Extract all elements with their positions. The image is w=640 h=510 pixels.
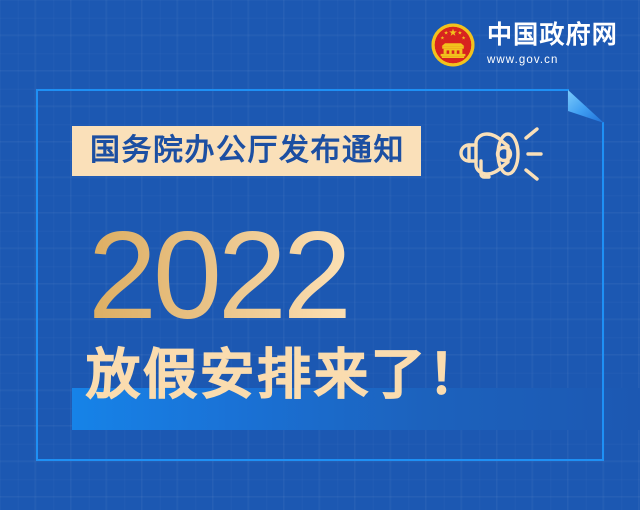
notice-banner-label: 国务院办公厅发布通知 — [90, 136, 405, 166]
headline: 放假安排来了！ — [86, 344, 485, 406]
headline-text: 放假安排来了！ — [86, 348, 485, 402]
poster-canvas: 中国政府网 www.gov.cn 国务院办公厅 — [0, 0, 640, 510]
svg-text:2022: 2022 — [88, 222, 348, 332]
site-header: 中国政府网 www.gov.cn — [0, 0, 640, 90]
year-display: 2022 — [88, 222, 388, 332]
notice-banner: 国务院办公厅发布通知 — [72, 126, 421, 176]
site-name: 中国政府网 — [487, 23, 618, 48]
frame-edge-right — [602, 122, 604, 461]
site-url: www.gov.cn — [487, 55, 618, 67]
page-fold-corner-icon — [567, 89, 604, 124]
gov-cn-logo[interactable]: 中国政府网 www.gov.cn — [430, 22, 618, 68]
megaphone-icon — [440, 116, 544, 188]
china-national-emblem-icon — [430, 22, 476, 68]
logo-text-block: 中国政府网 www.gov.cn — [487, 23, 618, 67]
frame-edge-left — [36, 89, 38, 461]
frame-edge-bottom — [36, 459, 604, 461]
